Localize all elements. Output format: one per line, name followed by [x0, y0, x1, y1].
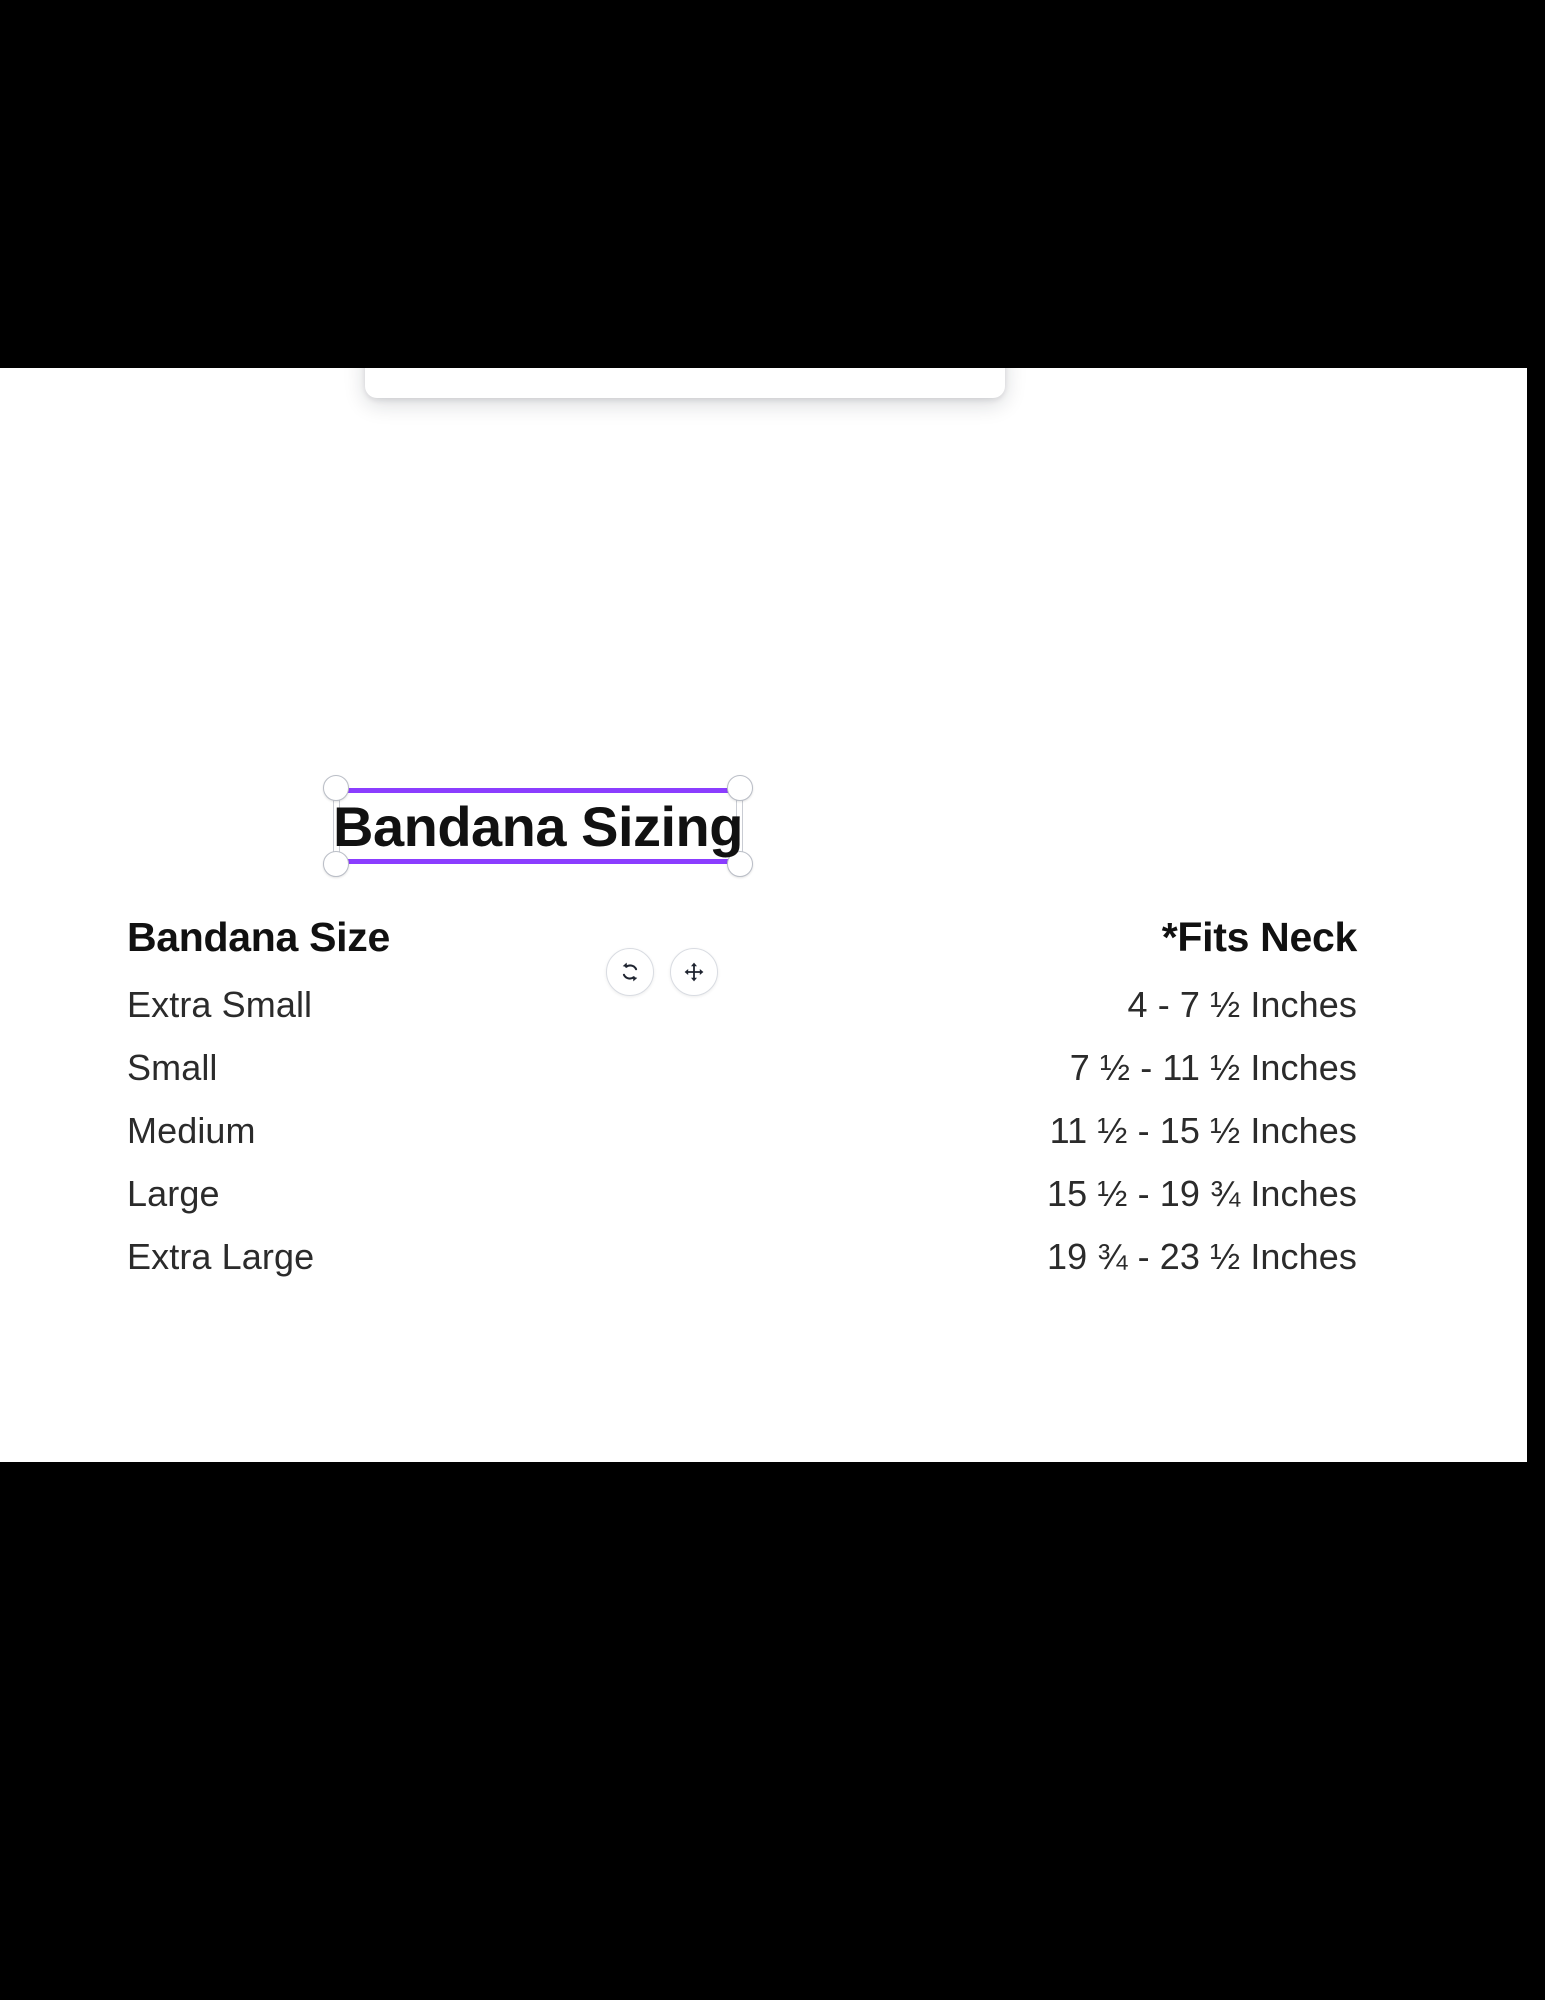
table-row: Extra Large 19 ¾ - 23 ½ Inches — [0, 1236, 1527, 1278]
object-controls — [606, 948, 718, 996]
table-header-cell-neck: *Fits Neck — [830, 914, 1527, 961]
table-row: Medium 11 ½ - 15 ½ Inches — [0, 1110, 1527, 1152]
size-label: Large — [127, 1173, 220, 1214]
table-header-row: Bandana Size *Fits Neck — [0, 914, 1527, 961]
move-icon — [682, 960, 706, 984]
table-row: Large 15 ½ - 19 ¾ Inches — [0, 1173, 1527, 1215]
table-row: Extra Small 4 - 7 ½ Inches — [0, 984, 1527, 1026]
cell-neck: 11 ½ - 15 ½ Inches — [830, 1110, 1527, 1152]
cell-size: Small — [0, 1047, 830, 1089]
cell-neck: 4 - 7 ½ Inches — [830, 984, 1527, 1026]
column-header-neck: *Fits Neck — [1162, 914, 1357, 960]
screen: Bandana Sizing Bandana Size *Fits Neck E… — [0, 0, 1545, 2000]
floating-toolbar[interactable] — [365, 368, 1005, 398]
cell-neck: 7 ½ - 11 ½ Inches — [830, 1047, 1527, 1089]
move-button[interactable] — [670, 948, 718, 996]
size-label: Small — [127, 1047, 218, 1088]
column-header-size: Bandana Size — [127, 914, 390, 960]
cell-size: Large — [0, 1173, 830, 1215]
cell-neck: 19 ¾ - 23 ½ Inches — [830, 1236, 1527, 1278]
neck-value: 11 ½ - 15 ½ Inches — [1050, 1110, 1357, 1151]
size-label: Extra Large — [127, 1236, 314, 1277]
rotate-button[interactable] — [606, 948, 654, 996]
page-title[interactable]: Bandana Sizing — [336, 788, 740, 864]
cell-size: Medium — [0, 1110, 830, 1152]
size-label: Medium — [127, 1110, 256, 1151]
neck-value: 19 ¾ - 23 ½ Inches — [1047, 1236, 1357, 1277]
size-label: Extra Small — [127, 984, 312, 1025]
neck-value: 4 - 7 ½ Inches — [1127, 984, 1357, 1025]
cell-size: Extra Large — [0, 1236, 830, 1278]
title-textbox-selection[interactable]: Bandana Sizing — [336, 788, 740, 864]
cell-neck: 15 ½ - 19 ¾ Inches — [830, 1173, 1527, 1215]
neck-value: 15 ½ - 19 ¾ Inches — [1047, 1173, 1357, 1214]
neck-value: 7 ½ - 11 ½ Inches — [1070, 1047, 1357, 1088]
rotate-icon — [617, 959, 643, 985]
document-canvas[interactable]: Bandana Sizing Bandana Size *Fits Neck E… — [0, 368, 1527, 1462]
table-row: Small 7 ½ - 11 ½ Inches — [0, 1047, 1527, 1089]
